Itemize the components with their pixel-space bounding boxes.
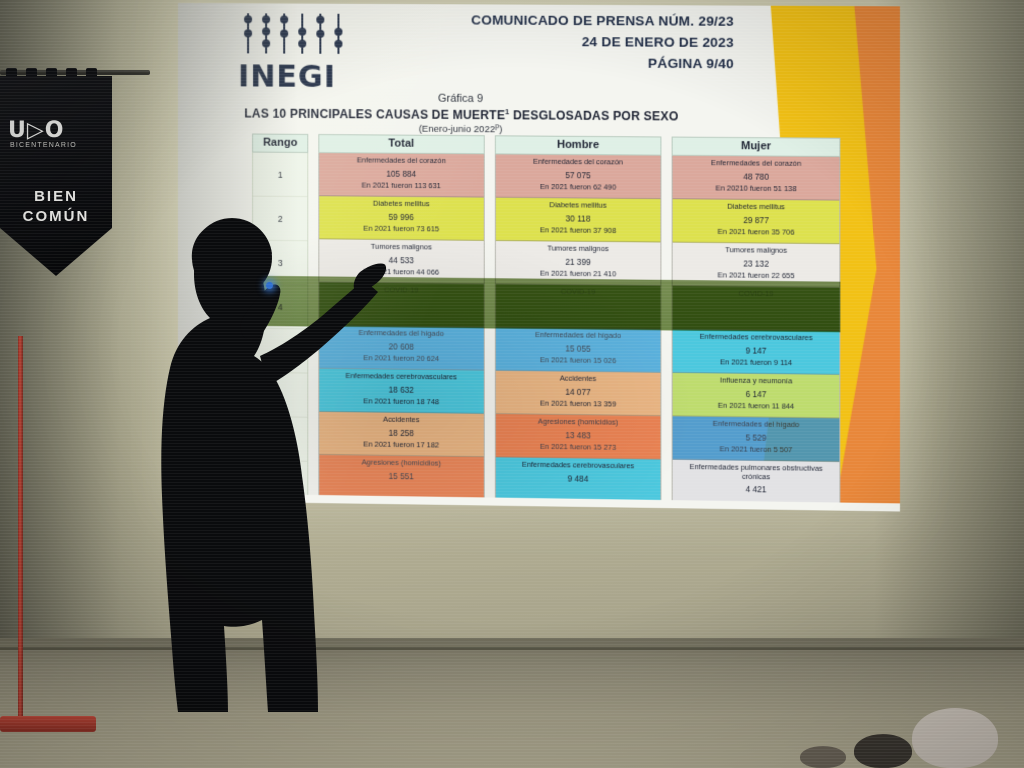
rank-cell: 4 — [253, 285, 307, 330]
table-cell-mujer: Tumores malignos23 132En 2021 fueron 22 … — [673, 243, 839, 288]
cause-value: 44 533 — [389, 256, 414, 265]
cause-name: Enfermedades del hígado — [713, 420, 800, 430]
table-cell-mujer: Enfermedades del corazón48 780En 20210 f… — [673, 156, 839, 201]
table-cell-total: Tumores malignos44 533En 2021 fueron 44 … — [319, 239, 483, 284]
photo-scene: U▷O BICENTENARIO BIEN COMÚN INEGI COMUNI… — [0, 0, 1024, 768]
banner-stand-pole — [18, 336, 23, 726]
table-cell-mujer: Influenza y neumonía6 147En 2021 fueron … — [673, 373, 839, 419]
cause-name: COVID-19 — [561, 288, 596, 297]
cause-value: 48 780 — [743, 172, 769, 181]
table-cell-hombre: Agresiones (homicidios)13 483En 2021 fue… — [496, 414, 661, 460]
inegi-wordmark: INEGI — [238, 59, 336, 95]
cause-name: Diabetes mellitus — [727, 203, 785, 212]
previous-year-value: En 2021 fueron 15 026 — [540, 355, 616, 365]
column-hombre: Enfermedades del corazón57 075En 2021 fu… — [495, 154, 662, 511]
table-cell-total: Accidentes18 258En 2021 fueron 17 182 — [319, 412, 483, 457]
rank-cell: 2 — [253, 197, 307, 242]
slide-subtitle-period: (Enero-junio 2022 — [419, 124, 495, 136]
table-cell-mujer: Enfermedades cerebrovasculares9 147En 20… — [673, 329, 839, 374]
previous-year-value: En 2021 fueron 35 706 — [718, 226, 795, 236]
cause-value: 30 118 — [566, 214, 591, 223]
table-cell-hombre: Enfermedades del corazón57 075En 2021 fu… — [496, 154, 661, 199]
cause-name: Agresiones (homicidios) — [538, 418, 618, 428]
floor-wall-joint — [0, 647, 1024, 650]
cause-name: Enfermedades del hígado — [359, 329, 444, 339]
cause-name: Accidentes — [383, 416, 419, 425]
table-cell-hombre: Enfermedades cerebrovasculares9 484 — [496, 457, 661, 503]
table-cell-mujer: Diabetes mellitus29 877En 2021 fueron 35… — [673, 199, 839, 244]
rank-column: 12345678 — [252, 153, 308, 507]
previous-year-value: En 2021 fueron 11 844 — [718, 400, 794, 410]
rank-cell: 6 — [253, 373, 307, 418]
previous-year-value: En 2021 fueron 73 615 — [363, 223, 439, 233]
previous-year-value: En 2021 fueron 113 631 — [362, 180, 441, 190]
causes-of-death-table: Rango Total Hombre Mujer 12345678 Enferm… — [252, 134, 840, 512]
cause-name: Tumores malignos — [547, 244, 608, 253]
slide-title-main: LAS 10 PRINCIPALES CAUSAS DE MUERTE — [244, 106, 505, 122]
table-cell-total: Enfermedades del corazón105 884En 2021 f… — [319, 153, 483, 198]
cause-name: Enfermedades del corazón — [357, 156, 446, 165]
cause-name: Diabetes mellitus — [549, 201, 606, 210]
table-cell-hombre: Tumores malignos21 399En 2021 fueron 21 … — [496, 241, 661, 286]
table-cell-total: COVID-19 — [319, 282, 483, 327]
previous-year-value: En 2021 fueron 21 410 — [540, 268, 616, 278]
cause-value: 5 529 — [746, 433, 767, 442]
column-header-total: Total — [318, 134, 484, 154]
previous-year-value: En 2021 fueron 15 273 — [540, 441, 616, 451]
previous-year-value: En 2021 fueron 9 114 — [720, 357, 792, 367]
table-cell-total: Enfermedades cerebrovasculares18 632En 2… — [319, 369, 483, 414]
rank-cell: 1 — [253, 153, 307, 198]
cause-value: 105 884 — [386, 169, 416, 178]
cause-value: 4 421 — [746, 485, 767, 494]
cause-value: 13 483 — [565, 431, 590, 440]
previous-year-value: En 2021 fueron 62 490 — [540, 181, 616, 191]
column-header-mujer: Mujer — [672, 137, 840, 157]
previous-year-value: En 2021 fueron 5 507 — [720, 444, 793, 454]
table-cell-mujer: Enfermedades del hígado5 529En 2021 fuer… — [673, 416, 839, 462]
column-header-rango: Rango — [252, 134, 308, 153]
inegi-abacus-icon — [240, 13, 357, 62]
table-cell-hombre: Diabetes mellitus30 118En 2021 fueron 37… — [496, 198, 661, 243]
cause-value: 59 996 — [389, 212, 414, 221]
rank-cell: 3 — [253, 241, 307, 286]
audience-head — [800, 746, 846, 768]
rank-cell: 5 — [253, 329, 307, 374]
cause-name: Agresiones (homicidios) — [361, 459, 441, 469]
header-line-comunicado: COMUNICADO DE PRENSA NÚM. 29/23 — [471, 10, 734, 32]
cause-name: Enfermedades del corazón — [711, 159, 801, 168]
table-cell-total: Diabetes mellitus59 996En 2021 fueron 73… — [319, 196, 483, 241]
cause-name: Enfermedades cerebrovasculares — [346, 372, 457, 382]
banner-text-line1: BIEN — [0, 188, 112, 205]
column-total: Enfermedades del corazón105 884En 2021 f… — [318, 153, 484, 509]
audience-head — [912, 708, 998, 768]
previous-year-value: En 2021 fueron 22 655 — [718, 270, 795, 280]
banner-text-line2: COMÚN — [0, 208, 112, 225]
slide-subtitle-tail: ) — [499, 124, 502, 135]
cause-name: Enfermedades pulmonares obstructivas cró… — [675, 463, 837, 482]
cause-name: Diabetes mellitus — [373, 200, 430, 209]
cause-value: 14 077 — [565, 387, 590, 396]
banner-logo: U▷O — [8, 118, 104, 143]
previous-year-value: En 2021 fueron 44 066 — [363, 266, 439, 276]
table-cell-total: Enfermedades del hígado20 608En 2021 fue… — [319, 326, 483, 371]
table-cell-hombre: Accidentes14 077En 2021 fueron 13 359 — [496, 371, 661, 416]
cause-value: 29 877 — [743, 215, 769, 224]
table-cell-hombre: Enfermedades del hígado15 055En 2021 fue… — [496, 328, 661, 373]
previous-year-value: En 2021 fueron 13 359 — [540, 398, 616, 408]
cause-value: 6 147 — [746, 389, 767, 398]
previous-year-value: En 20210 fueron 51 138 — [715, 183, 796, 193]
projected-slide: INEGI COMUNICADO DE PRENSA NÚM. 29/23 24… — [178, 3, 900, 512]
table-cell-hombre: COVID-19 — [496, 284, 661, 329]
table-cell-mujer: Enfermedades pulmonares obstructivas cró… — [673, 460, 839, 506]
banner-cloth: U▷O BICENTENARIO BIEN COMÚN — [0, 76, 112, 276]
audience-head — [854, 734, 912, 768]
cause-name: Enfermedades cerebrovasculares — [700, 333, 813, 343]
cause-value: 21 399 — [565, 257, 590, 266]
banner-subtitle: BICENTENARIO — [10, 142, 106, 149]
header-line-page: PÁGINA 9/40 — [471, 52, 734, 75]
column-header-hombre: Hombre — [495, 135, 662, 155]
cause-value: 20 608 — [389, 342, 414, 351]
cause-name: Enfermedades del corazón — [533, 158, 623, 167]
banner-stand-base — [0, 716, 96, 732]
previous-year-value: En 2021 fueron 17 182 — [363, 439, 439, 449]
previous-year-value: En 2021 fueron 37 908 — [540, 225, 616, 235]
cause-name: Enfermedades del hígado — [535, 331, 621, 341]
institutional-banner: U▷O BICENTENARIO BIEN COMÚN — [0, 56, 128, 306]
cause-value: 18 258 — [389, 428, 414, 437]
cause-name: COVID-19 — [739, 290, 774, 299]
cause-value: 15 055 — [565, 344, 590, 353]
cause-name: COVID-19 — [384, 286, 418, 295]
cause-value: 57 075 — [565, 171, 590, 180]
table-cell-total: Agresiones (homicidios)15 551 — [319, 455, 483, 500]
inegi-logo: INEGI — [238, 13, 359, 94]
cause-value: 15 551 — [389, 471, 414, 480]
previous-year-value: En 2021 fueron 20 624 — [363, 353, 439, 363]
cause-value: 9 147 — [746, 346, 767, 355]
cause-name: Enfermedades cerebrovasculares — [522, 461, 634, 471]
cause-name: Accidentes — [560, 375, 597, 384]
header-line-date: 24 DE ENERO DE 2023 — [471, 31, 734, 54]
cause-value: 23 132 — [743, 259, 769, 268]
press-release-header: COMUNICADO DE PRENSA NÚM. 29/23 24 DE EN… — [471, 10, 734, 75]
cause-value: 9 484 — [568, 474, 589, 483]
column-mujer: Enfermedades del corazón48 780En 20210 f… — [672, 156, 840, 512]
cause-name: Tumores malignos — [725, 246, 787, 255]
cause-value: 18 632 — [389, 385, 414, 394]
cause-name: Influenza y neumonía — [720, 376, 792, 385]
slide-title-tail: DESGLOSADAS POR SEXO — [510, 108, 679, 123]
cause-name: Tumores malignos — [371, 243, 432, 252]
rank-cell: 7 — [253, 417, 307, 462]
previous-year-value: En 2021 fueron 18 748 — [363, 396, 439, 406]
table-cell-mujer: COVID-19 — [673, 286, 839, 331]
